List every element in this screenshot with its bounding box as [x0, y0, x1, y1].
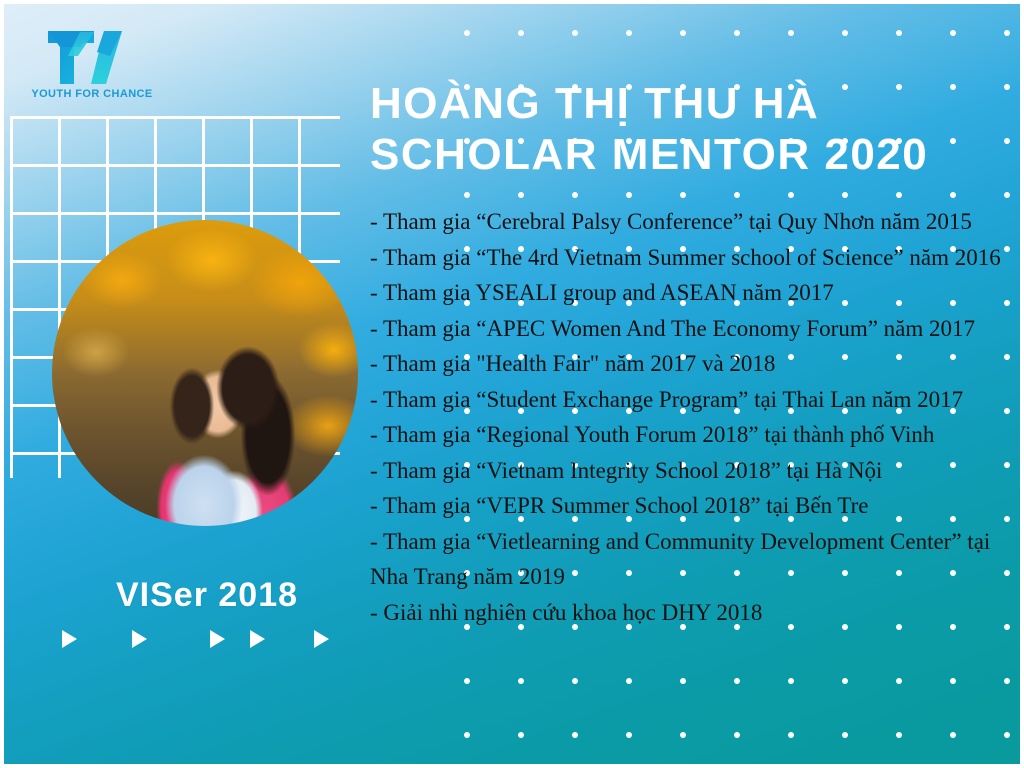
achievement-item: - Tham gia YSEALI group and ASEAN năm 20…: [370, 275, 1024, 311]
grid-line-horizontal: [10, 164, 340, 167]
decorative-dot: [572, 678, 578, 684]
viser-badge-label: VISer 2018: [82, 576, 332, 615]
decorative-dot: [626, 30, 632, 36]
achievement-item: - Tham gia "Health Fair" năm 2017 và 201…: [370, 346, 1024, 382]
decorative-dot: [518, 678, 524, 684]
decorative-dot: [896, 30, 902, 36]
decorative-dot: [842, 192, 848, 198]
decorative-dot: [464, 732, 470, 738]
decorative-dot: [842, 732, 848, 738]
achievement-item: - Tham gia “Student Exchange Program” tạ…: [370, 382, 1024, 418]
decorative-dot: [788, 678, 794, 684]
decorative-dot: [464, 678, 470, 684]
decorative-dot: [1004, 192, 1010, 198]
decorative-dot: [734, 30, 740, 36]
decorative-dot: [788, 732, 794, 738]
title-line-name: Hoàng Thị Thu Hà: [370, 78, 1020, 129]
decorative-dot: [518, 732, 524, 738]
achievement-item: - Tham gia “APEC Women And The Economy F…: [370, 311, 1024, 347]
achievements-list: - Tham gia “Cerebral Palsy Conference” t…: [370, 204, 1024, 630]
brand-logo: YOUTH FOR CHANCE: [22, 26, 162, 112]
title-line-role: Scholar Mentor 2020: [370, 129, 1020, 180]
poster-canvas: YOUTH FOR CHANCE VISer 2018 Hoàng Thị Th…: [0, 0, 1024, 768]
decorative-dot: [680, 192, 686, 198]
decorative-dot: [950, 732, 956, 738]
decorative-dot: [896, 678, 902, 684]
page-title: Hoàng Thị Thu Hà Scholar Mentor 2020: [370, 78, 1020, 181]
decorative-dot: [1004, 30, 1010, 36]
play-triangle-icon: [210, 630, 225, 648]
decorative-dot: [626, 192, 632, 198]
achievement-item: - Tham gia “Regional Youth Forum 2018” t…: [370, 417, 1024, 453]
decorative-dot: [572, 192, 578, 198]
play-triangle-icon: [314, 630, 329, 648]
decorative-dot: [680, 30, 686, 36]
grid-line-horizontal: [10, 212, 340, 215]
portrait-photo: [52, 220, 358, 526]
mentor-portrait-avatar: [52, 220, 358, 526]
decorative-dot: [896, 192, 902, 198]
achievement-item: - Giải nhì nghiên cứu khoa học DHY 2018: [370, 595, 1024, 631]
decorative-dot: [1004, 732, 1010, 738]
decorative-dot: [950, 678, 956, 684]
decorative-dot: [842, 678, 848, 684]
grid-line-vertical: [10, 116, 13, 478]
decorative-dot: [680, 678, 686, 684]
decorative-dot: [734, 678, 740, 684]
decorative-dot: [842, 30, 848, 36]
decorative-dot: [464, 192, 470, 198]
decorative-dot: [734, 192, 740, 198]
achievement-item: - Tham gia “Vietlearning and Community D…: [370, 524, 1024, 595]
youth-for-chance-y-logo-icon: [44, 26, 136, 88]
achievement-item: - Tham gia “Vietnam Integrity School 201…: [370, 453, 1024, 489]
play-triangle-icon: [250, 630, 265, 648]
achievement-item: - Tham gia “VEPR Summer School 2018” tại…: [370, 488, 1024, 524]
play-triangle-icon: [62, 630, 77, 648]
decorative-dot: [950, 192, 956, 198]
decorative-dot: [680, 732, 686, 738]
achievement-item: - Tham gia “The 4rd Vietnam Summer schoo…: [370, 240, 1024, 276]
decorative-dot: [1004, 678, 1010, 684]
decorative-dot: [950, 30, 956, 36]
decorative-dot: [518, 30, 524, 36]
arrow-decoration-row: [62, 626, 352, 654]
decorative-dot: [572, 732, 578, 738]
decorative-dot: [788, 30, 794, 36]
decorative-dot: [734, 732, 740, 738]
decorative-dot: [626, 732, 632, 738]
decorative-dot: [788, 192, 794, 198]
decorative-dot: [518, 192, 524, 198]
achievement-item: - Tham gia “Cerebral Palsy Conference” t…: [370, 204, 1024, 240]
play-triangle-icon: [132, 630, 147, 648]
decorative-dot: [464, 30, 470, 36]
grid-line-horizontal: [10, 116, 340, 119]
decorative-dot: [626, 678, 632, 684]
decorative-dot: [572, 30, 578, 36]
decorative-dot: [896, 732, 902, 738]
logo-wordmark: YOUTH FOR CHANCE: [22, 88, 162, 100]
